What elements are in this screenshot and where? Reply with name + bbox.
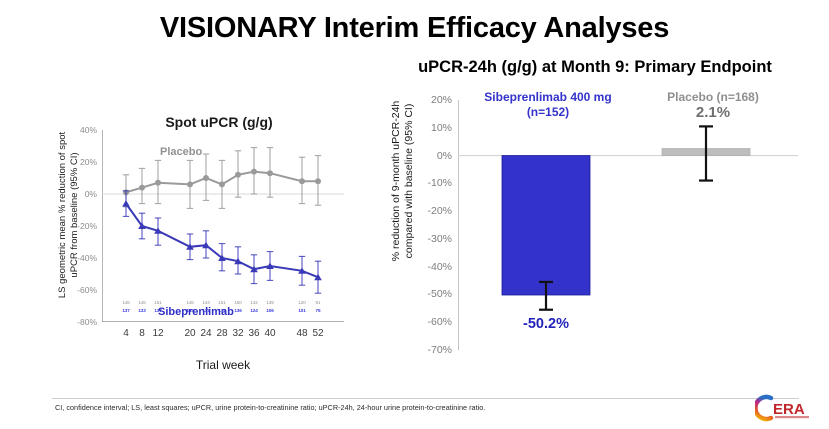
right-chart-y-axis-label: % reduction of 9-month uPCR-24h compared… <box>390 76 416 286</box>
n-count-placebo-5: 151 <box>218 300 225 305</box>
right-y-tick-0: 20% <box>431 94 452 106</box>
left-y-tick-0: 40% <box>80 125 97 135</box>
n-count-placebo-7: 142 <box>250 300 257 305</box>
right-y-tick-1: 10% <box>431 122 452 134</box>
slide-canvas: VISIONARY Interim Efficacy Analyses Spot… <box>0 0 829 429</box>
svg-text:ERA: ERA <box>773 401 805 418</box>
right-y-tick-4: -20% <box>427 205 452 217</box>
left-x-tick-7: 36 <box>248 328 259 339</box>
left-chart-x-axis-label: Trial week <box>102 358 344 372</box>
left-x-tick-8: 40 <box>264 328 275 339</box>
left-x-tick-2: 12 <box>152 328 163 339</box>
right-y-tick-7: -50% <box>427 288 452 300</box>
left-y-tick-6: -80% <box>77 317 97 327</box>
right-y-tick-6: -40% <box>427 261 452 273</box>
n-count-placebo-9: 120 <box>298 300 305 305</box>
left-chart-y-axis-label: LS geometric mean % reduction of spot uP… <box>57 120 81 310</box>
n-count-sibe-6: 136 <box>234 308 241 313</box>
left-x-tick-4: 24 <box>200 328 211 339</box>
left-y-tick-5: -60% <box>77 285 97 295</box>
n-count-sibe-1: 133 <box>138 308 145 313</box>
right-y-tick-9: -70% <box>427 344 452 356</box>
left-y-tick-2: 0% <box>85 189 97 199</box>
left-y-tick-3: -20% <box>77 221 97 231</box>
n-count-sibe-7: 124 <box>250 308 257 313</box>
left-x-tick-10: 52 <box>312 328 323 339</box>
left-x-tick-1: 8 <box>139 328 145 339</box>
n-count-sibe-10: 75 <box>316 308 321 313</box>
left-chart-plot-area: 40%20%0%-20%-40%-60%-80% 481220242832364… <box>102 130 344 322</box>
n-count-placebo-0: 146 <box>122 300 129 305</box>
upcr24h-chart-panel: uPCR-24h (g/g) at Month 9: Primary Endpo… <box>370 58 820 368</box>
era-logo: ERA <box>755 392 821 424</box>
footer-divider <box>52 398 799 399</box>
right-y-tick-8: -60% <box>427 316 452 328</box>
footnote-abbreviations: CI, confidence interval; LS, least squar… <box>55 403 485 412</box>
right-y-tick-5: -30% <box>427 233 452 245</box>
left-chart-title: Spot uPCR (g/g) <box>94 114 344 130</box>
n-count-placebo-10: 91 <box>316 300 321 305</box>
left-x-tick-5: 28 <box>216 328 227 339</box>
left-x-tick-9: 48 <box>296 328 307 339</box>
right-chart-bars <box>458 100 798 350</box>
right-y-tick-3: -10% <box>427 177 452 189</box>
sibeprenlimab-value-label: -50.2% <box>523 316 569 332</box>
right-chart-plot-area: 20%10%0%-10%-20%-30%-40%-50%-60%-70% -50… <box>458 100 798 350</box>
n-count-placebo-8: 139 <box>266 300 273 305</box>
left-x-tick-3: 20 <box>184 328 195 339</box>
page-title: VISIONARY Interim Efficacy Analyses <box>0 12 829 45</box>
n-count-placebo-6: 150 <box>234 300 241 305</box>
right-y-tick-2: 0% <box>437 150 452 162</box>
left-chart-series <box>102 130 344 322</box>
n-count-placebo-3: 146 <box>186 300 193 305</box>
left-x-tick-6: 32 <box>232 328 243 339</box>
left-chart-sibeprenlimab-annotation: Sibeprenlimab <box>158 306 234 318</box>
n-count-placebo-4: 144 <box>202 300 209 305</box>
n-count-placebo-2: 151 <box>154 300 161 305</box>
left-y-tick-4: -40% <box>77 253 97 263</box>
left-x-tick-0: 4 <box>123 328 129 339</box>
n-count-sibe-8: 106 <box>266 308 273 313</box>
n-count-sibe-0: 137 <box>122 308 129 313</box>
right-chart-title: uPCR-24h (g/g) at Month 9: Primary Endpo… <box>370 58 820 77</box>
n-count-placebo-1: 146 <box>138 300 145 305</box>
left-chart-placebo-annotation: Placebo <box>160 146 202 158</box>
left-y-tick-1: 20% <box>80 157 97 167</box>
n-count-sibe-9: 101 <box>298 308 305 313</box>
spot-upcr-chart-panel: Spot uPCR (g/g) LS geometric mean % redu… <box>34 108 364 383</box>
